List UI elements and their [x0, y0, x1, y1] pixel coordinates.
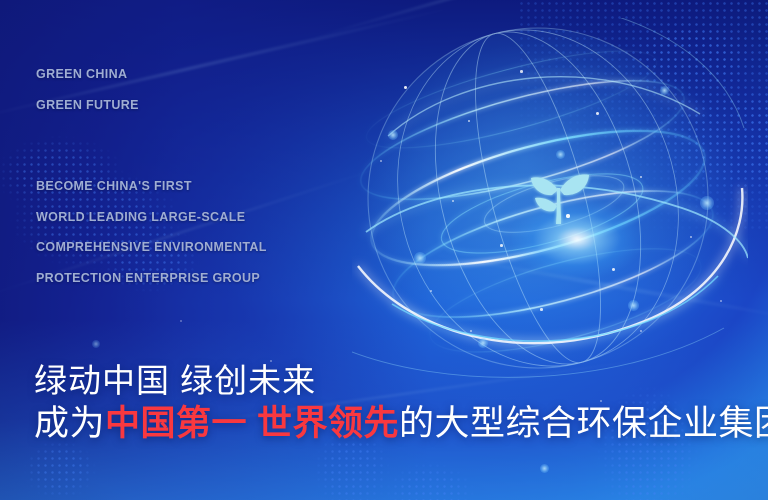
tagline-line: GREEN CHINA: [36, 68, 139, 81]
headline-block: 绿动中国 绿创未来 成为中国第一世界领先的大型综合环保企业集团: [34, 364, 768, 441]
headline-segment-highlight-1: 中国第一: [105, 404, 247, 443]
tagline-block-mid: BECOME CHINA'S FIRST WORLD LEADING LARGE…: [36, 180, 267, 284]
headline-line-1: 绿动中国 绿创未来: [34, 364, 768, 397]
hero-banner: GREEN CHINA GREEN FUTURE BECOME CHINA'S …: [0, 0, 768, 500]
tagline-line: PROTECTION ENTERPRISE GROUP: [36, 272, 267, 285]
headline-line-2: 成为中国第一世界领先的大型综合环保企业集团: [34, 406, 768, 441]
tagline-line: GREEN FUTURE: [36, 99, 139, 112]
tagline-line: COMPREHENSIVE ENVIRONMENTAL: [36, 241, 267, 254]
tagline-line: WORLD LEADING LARGE-SCALE: [36, 211, 267, 224]
headline-segment-plain: 成为: [34, 404, 105, 443]
tagline-line: BECOME CHINA'S FIRST: [36, 180, 267, 193]
headline-segment-tail: 的大型综合环保企业集团: [399, 404, 768, 443]
headline-segment-highlight-2: 世界领先: [257, 404, 399, 443]
tagline-block-top: GREEN CHINA GREEN FUTURE: [36, 68, 139, 111]
green-sprout-icon: [524, 166, 594, 234]
